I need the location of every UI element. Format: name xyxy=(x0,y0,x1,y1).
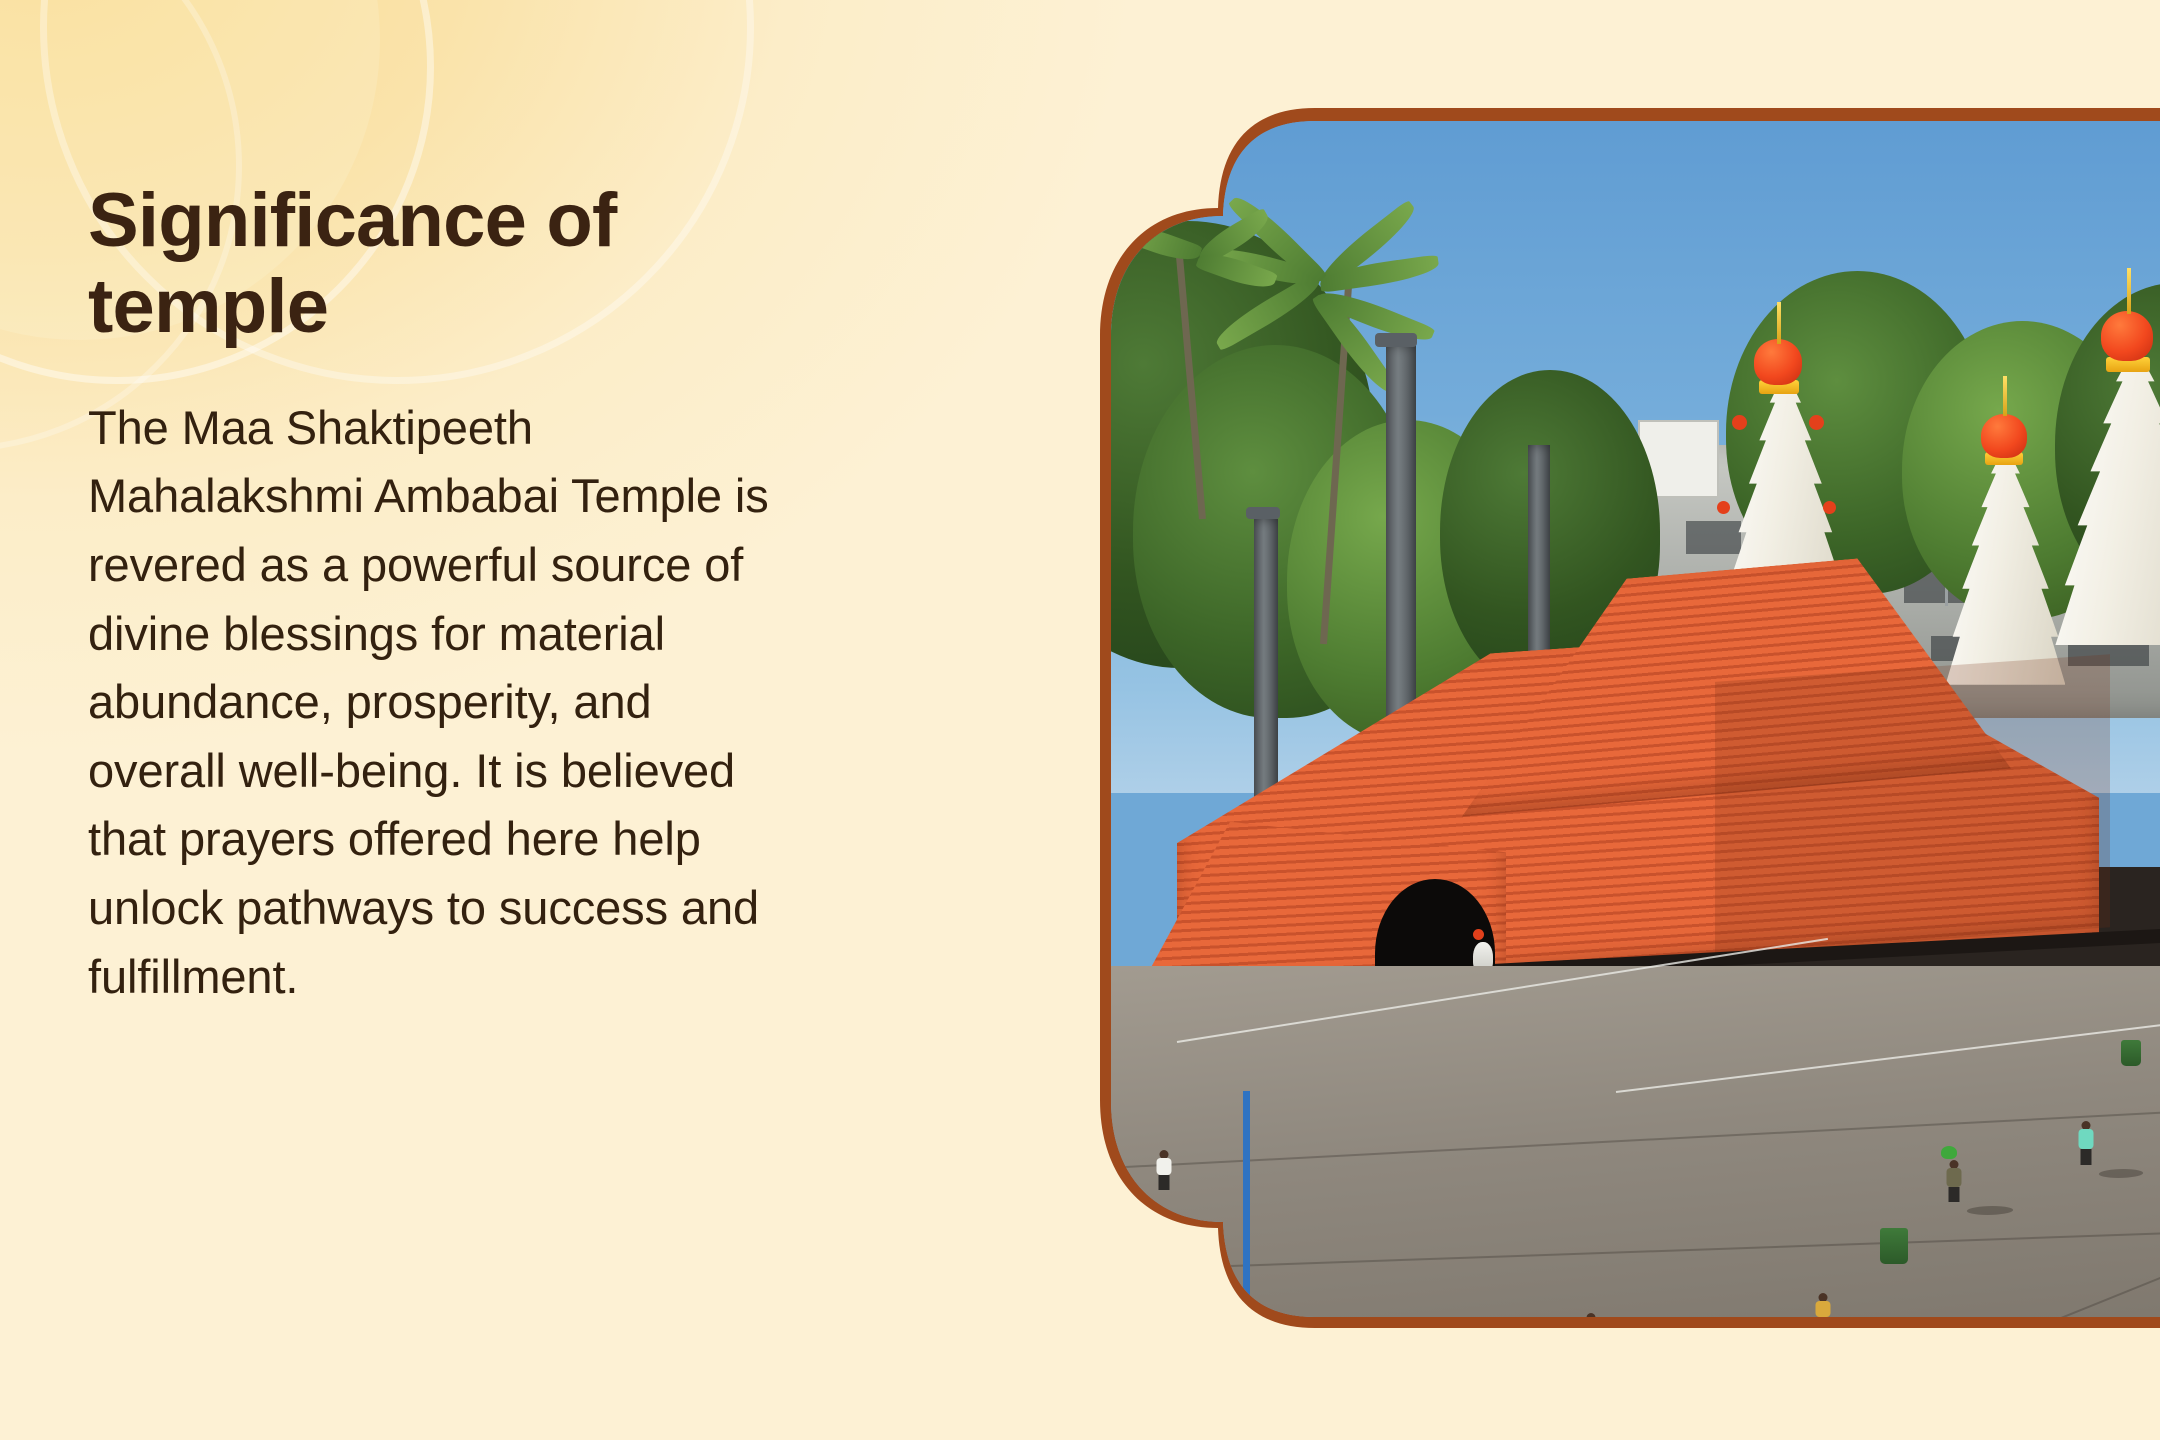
shikhara-knob xyxy=(1823,501,1836,514)
deepmala-cap xyxy=(1246,507,1280,519)
shikhara-spire xyxy=(1945,445,2065,685)
photo-frame-border xyxy=(1100,86,2160,1350)
shikhara-spire xyxy=(2055,345,2160,645)
visitor xyxy=(1583,1313,1599,1339)
deepmala-cap xyxy=(1375,333,1417,347)
temple-photo-scene xyxy=(1111,97,2160,1339)
section-body-text: The Maa Shaktipeeth Mahalakshmi Ambabai … xyxy=(88,394,788,1011)
visitor xyxy=(2077,1121,2095,1165)
stone-plaza xyxy=(1111,966,2160,1339)
shikhara-dome xyxy=(1981,414,2027,458)
shikhara-finial xyxy=(2127,268,2131,314)
roof-shadow xyxy=(1715,654,2110,955)
trash-bin xyxy=(1880,1228,1908,1264)
green-helmet xyxy=(1941,1146,1957,1159)
shikhara-dome xyxy=(1754,339,1802,385)
shikhara-knob xyxy=(1717,501,1730,514)
temple-photo xyxy=(1111,97,2160,1339)
visitor xyxy=(1814,1293,1832,1327)
trash-bin xyxy=(2121,1040,2141,1066)
blue-pipe xyxy=(1243,1091,1250,1315)
shikhara-finial xyxy=(2003,376,2007,416)
section-title: Significance of temple xyxy=(88,178,788,350)
shikhara-dome xyxy=(2101,311,2153,361)
text-column: Significance of temple The Maa Shaktipee… xyxy=(88,178,788,1011)
visitor xyxy=(1945,1160,1963,1202)
slide-canvas: Significance of temple The Maa Shaktipee… xyxy=(0,0,2160,1440)
shikhara-finial xyxy=(1777,302,1781,344)
visitor xyxy=(1155,1150,1173,1190)
